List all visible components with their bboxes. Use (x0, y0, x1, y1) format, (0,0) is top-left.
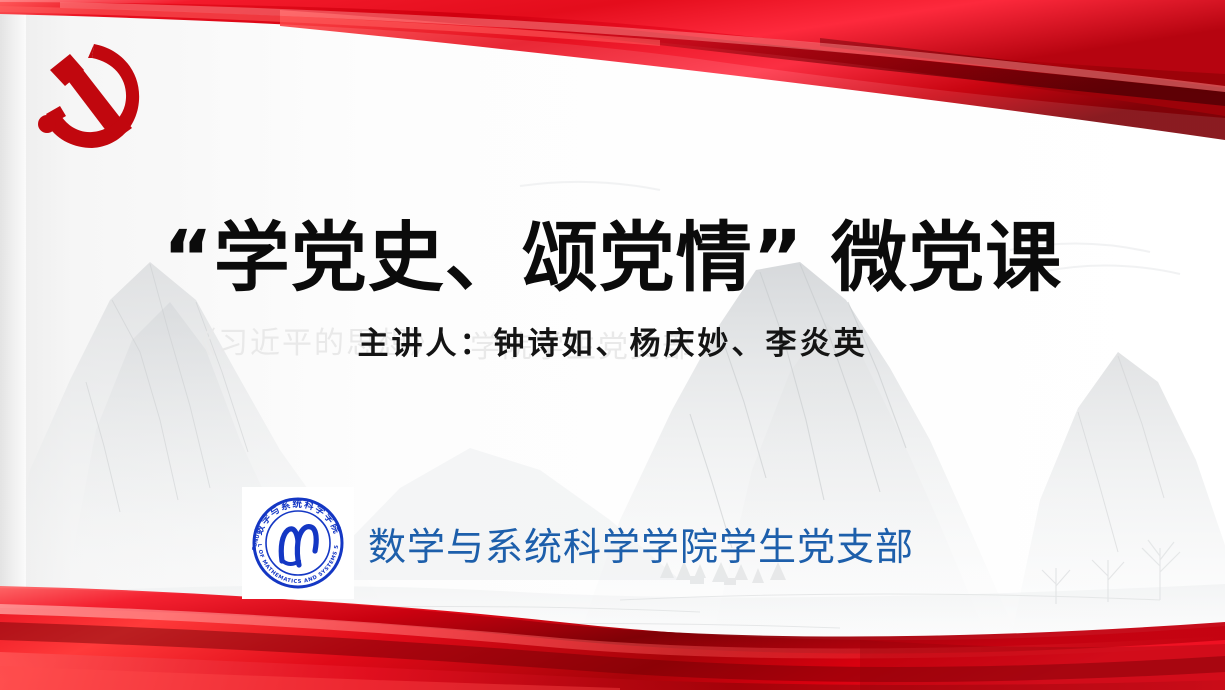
organization-name: 数学与系统科学学院学生党支部 (368, 516, 914, 571)
title-slide: 《习近平的思想》 学院学生党支部 (0, 0, 1225, 690)
page-title: “学党史、颂党情” 微党课 (0, 217, 1225, 299)
school-seal-logo: 数学与系统科学学院 SCHOOL OF MATHEMATICS AND SYST… (242, 487, 354, 599)
presenter-subtitle: 主讲人：钟诗如、杨庆妙、李炎英 (0, 318, 1225, 363)
organization-footer: 数学与系统科学学院 SCHOOL OF MATHEMATICS AND SYST… (242, 484, 942, 602)
cpc-party-emblem (22, 28, 154, 160)
